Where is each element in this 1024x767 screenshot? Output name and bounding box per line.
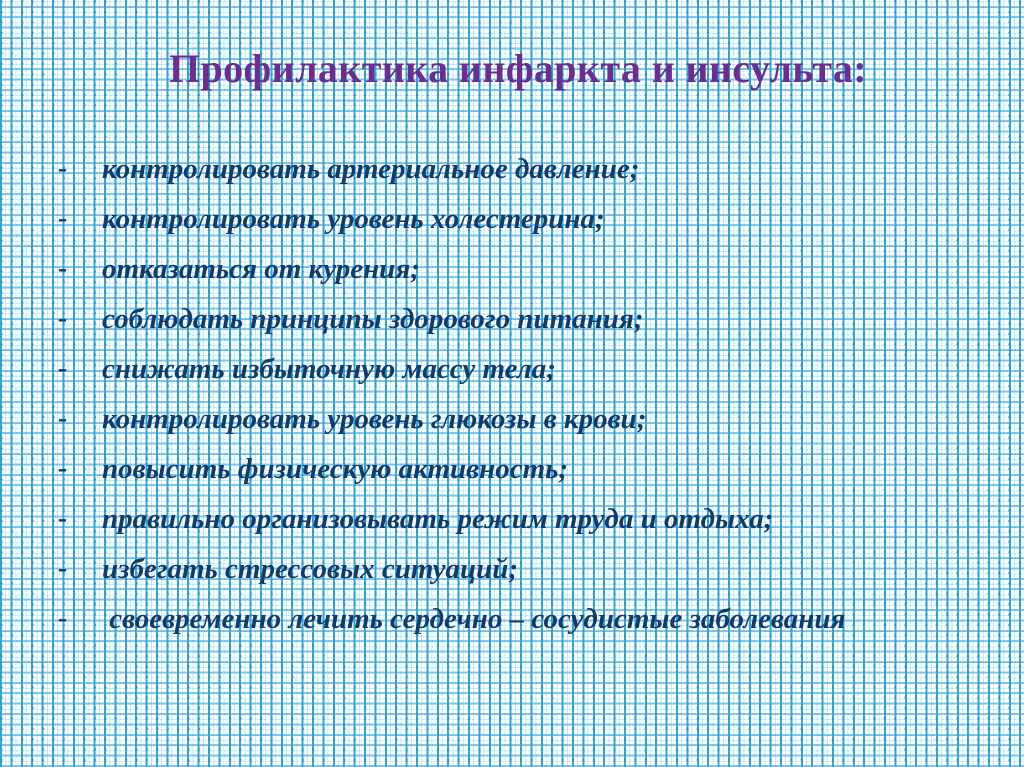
bullet-dash-icon: -: [0, 446, 102, 492]
list-item-label: повысить физическую активность;: [102, 446, 962, 492]
list-item: - правильно организовывать режим труда и…: [0, 496, 1024, 542]
bullet-dash-icon: -: [0, 296, 102, 342]
list-item: - контролировать артериальное давление;: [0, 146, 1024, 192]
list-item-label: отказаться от курения;: [102, 246, 962, 292]
list-item: - снижать избыточную массу тела;: [0, 346, 1024, 392]
list-item-label: избегать стрессовых ситуаций;: [102, 546, 962, 592]
bullet-dash-icon: -: [0, 346, 102, 392]
page-title: Профилактика инфаркта и инсульта:: [78, 46, 958, 92]
bullet-dash-icon: -: [0, 146, 102, 192]
bullet-dash-icon: -: [0, 396, 102, 442]
list-item-label: контролировать уровень холестерина;: [102, 196, 962, 242]
prevention-bullet-list: - контролировать артериальное давление; …: [0, 146, 1024, 646]
list-item-label: своевременно лечить сердечно – сосудисты…: [102, 596, 922, 642]
list-item-label: соблюдать принципы здорового питания;: [102, 296, 962, 342]
slide-content: Профилактика инфаркта и инсульта: - конт…: [0, 0, 1024, 767]
list-item-label: контролировать уровень глюкозы в крови;: [102, 396, 962, 442]
slide-canvas: Профилактика инфаркта и инсульта: - конт…: [0, 0, 1024, 767]
bullet-dash-icon: -: [0, 196, 102, 242]
bullet-dash-icon: -: [0, 596, 102, 642]
list-item-label: снижать избыточную массу тела;: [102, 346, 962, 392]
list-item: - своевременно лечить сердечно – сосудис…: [0, 596, 1024, 642]
bullet-dash-icon: -: [0, 496, 102, 542]
list-item-label: правильно организовывать режим труда и о…: [102, 496, 922, 542]
list-item: - повысить физическую активность;: [0, 446, 1024, 492]
list-item: - отказаться от курения;: [0, 246, 1024, 292]
list-item: - контролировать уровень глюкозы в крови…: [0, 396, 1024, 442]
list-item: - контролировать уровень холестерина;: [0, 196, 1024, 242]
list-item: - соблюдать принципы здорового питания;: [0, 296, 1024, 342]
bullet-dash-icon: -: [0, 546, 102, 592]
bullet-dash-icon: -: [0, 246, 102, 292]
list-item-label: контролировать артериальное давление;: [102, 146, 962, 192]
list-item: - избегать стрессовых ситуаций;: [0, 546, 1024, 592]
